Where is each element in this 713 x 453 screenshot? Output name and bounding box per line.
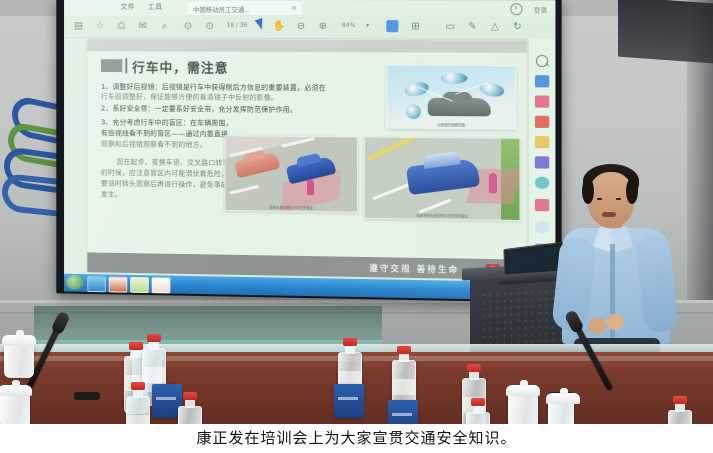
microphone-base — [74, 392, 100, 400]
highlight-icon[interactable]: △ — [488, 20, 502, 34]
projection-screen-frame: 文件 工具 中国移动员工交通... × ▤ ☆ ⎙ ✉ ⌕ ⊙ ⊙ 18 — [56, 0, 561, 303]
tea-cup — [548, 402, 574, 424]
slide-body-line: 有些视线看不到的盲区——通过内靠直接 — [101, 129, 228, 139]
slide-body-line: 发生。 — [101, 190, 122, 199]
zoom-level-label[interactable]: 84% — [342, 22, 355, 29]
illustration-caption: 后视镜的观察范围 — [387, 122, 515, 128]
sign-icon[interactable] — [535, 199, 549, 211]
screenshot-root: 文件 工具 中国移动员工交通... × ▤ ☆ ⎙ ✉ ⌕ ⊙ ⊙ 18 — [0, 0, 713, 453]
slide-title-divider — [125, 58, 127, 73]
slide-body-line: 您在起步、变换车道、交叉路口转弯 — [117, 158, 230, 168]
pencil-icon[interactable]: ✎ — [465, 20, 479, 34]
hand-tool-icon[interactable]: ✋ — [272, 20, 286, 34]
chevron-down-icon[interactable]: ▾ — [366, 22, 369, 29]
search-icon[interactable] — [536, 55, 548, 67]
zoom-out-icon[interactable]: ⊖ — [294, 20, 308, 34]
note-icon[interactable] — [535, 136, 549, 148]
print-icon[interactable]: ⎙ — [115, 20, 129, 34]
browser-icon[interactable] — [87, 276, 105, 292]
water-bottle — [126, 396, 150, 424]
lane-change-blind-spot-illustration: 变换车道时侧后方存在的盲区 — [225, 135, 359, 212]
water-bottle — [466, 412, 490, 424]
mirror-blind-spot-diagram: 后视镜的观察范围 — [386, 64, 516, 129]
select-cursor-icon — [255, 18, 266, 31]
media-player-icon[interactable] — [109, 277, 128, 293]
slide-title: 行车中，需注意 — [132, 57, 228, 76]
pdf-app-toolbar: ▤ ☆ ⎙ ✉ ⌕ ⊙ ⊙ 18 / 36 ✋ ⊖ ⊕ 84% ▾ ⊞ ▭ — [64, 16, 555, 40]
menu-tools[interactable]: 工具 — [148, 2, 163, 12]
company-wave-logo — [2, 96, 62, 206]
pdf-page[interactable]: 行车中，需注意 1、调整好后视镜：后视镜是行车中获得侧后方信息的重要装置，必须在… — [87, 39, 526, 280]
comment-icon[interactable]: ▭ — [443, 20, 457, 34]
slide-body-line: 的时候，应注意盲区内可能潜伏着危险， — [101, 169, 228, 179]
slide-body-line: 观察和后视镜观察看不到的地方。 — [101, 140, 207, 150]
water-bottle — [668, 410, 692, 424]
pdf-app-menubar: 文件 工具 中国移动员工交通... × — [64, 0, 555, 16]
blue-product-box — [334, 384, 364, 418]
folder-icon[interactable] — [130, 277, 149, 293]
slide-body-line: 2、系好安全带：一定要系好安全带，充分发挥防范保护作用。 — [101, 105, 297, 115]
adobe-pdf-icon[interactable] — [152, 277, 171, 293]
search-icon[interactable]: ⌕ — [158, 20, 172, 34]
slide-body-line: 1、调整好后视镜：后视镜是行车中获得侧后方信息的重要装置，必须在 — [101, 83, 326, 93]
convert-to-ppt-icon[interactable] — [535, 116, 549, 128]
page-layout-icon[interactable]: ⊞ — [409, 20, 423, 34]
next-page-icon[interactable]: ⊙ — [203, 20, 217, 34]
projected-desktop: 文件 工具 中国移动员工交通... × ▤ ☆ ⎙ ✉ ⌕ ⊙ ⊙ 18 — [64, 0, 555, 301]
photo-caption-bar: 康正发在培训会上为大家宣贯交通安全知识。 — [0, 424, 713, 453]
clock-icon[interactable] — [510, 3, 522, 15]
stamp-icon[interactable] — [535, 221, 549, 233]
close-icon[interactable]: × — [291, 4, 297, 12]
bookmark-star-icon[interactable]: ☆ — [93, 20, 107, 34]
slide-title-accent — [101, 59, 122, 72]
page-indicator: 18 / 36 — [227, 22, 248, 29]
new-document-icon[interactable]: ▤ — [72, 20, 86, 34]
presentation-photo: 文件 工具 中国移动员工交通... × ▤ ☆ ⎙ ✉ ⌕ ⊙ ⊙ 18 — [0, 0, 713, 424]
document-tab[interactable]: 中国移动员工交通... × — [187, 1, 302, 15]
start-orb-icon[interactable] — [66, 275, 83, 290]
merge-pdf-icon[interactable] — [535, 156, 549, 168]
menu-file[interactable]: 文件 — [120, 2, 135, 12]
zoom-in-icon[interactable]: ⊕ — [316, 20, 330, 34]
right-turn-blind-spot-illustration: 右转弯时车辆右侧存在的视线盲区 — [364, 137, 520, 221]
slide-top-band — [87, 39, 526, 52]
water-bottle — [178, 406, 202, 424]
blue-product-box — [388, 400, 418, 424]
tea-cup — [4, 344, 34, 378]
email-icon[interactable]: ✉ — [136, 20, 150, 34]
slide-body-line: 要适时转头观察后再进行操作，避免事故 — [101, 180, 228, 190]
photo-caption: 康正发在培训会上为大家宣贯交通安全知识。 — [0, 427, 713, 448]
fit-page-icon[interactable] — [386, 20, 398, 32]
right-wall-shadow — [687, 0, 713, 300]
slide-banner-text: 遵守交规 善待生命 — [369, 262, 459, 276]
login-button[interactable]: 登录 — [534, 4, 547, 14]
slide-body-line: 行车前调整好，保证能够方便的看清镜子中反射的影像。 — [101, 93, 278, 103]
tea-cup — [0, 394, 30, 424]
convert-to-word-icon[interactable] — [535, 75, 549, 87]
document-tab-label: 中国移动员工交通... — [193, 4, 288, 14]
slide-body-line: 3、充分考虑行车中的盲区：在车辆周围， — [101, 118, 233, 128]
prev-page-icon[interactable]: ⊙ — [181, 20, 195, 34]
rotate-icon[interactable]: ↻ — [510, 20, 524, 34]
compress-icon[interactable] — [535, 177, 549, 189]
tea-cup — [508, 394, 538, 424]
convert-to-excel-icon[interactable] — [535, 95, 549, 107]
